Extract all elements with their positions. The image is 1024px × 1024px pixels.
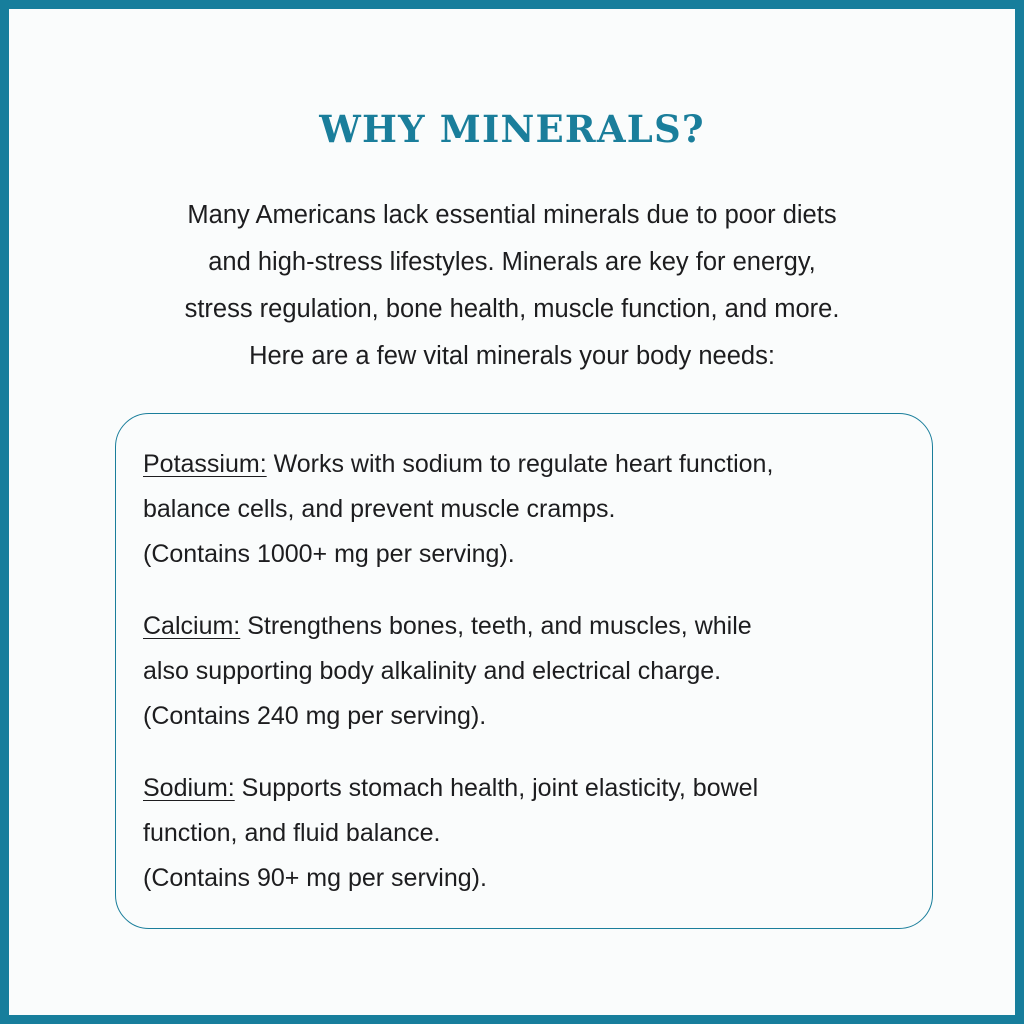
mineral-entry-calcium: Calcium: Strengthens bones, teeth, and m… bbox=[143, 604, 908, 739]
mineral-entry-potassium: Potassium: Works with sodium to regulate… bbox=[143, 442, 908, 577]
mineral-text-calcium-1: Strengthens bones, teeth, and muscles, w… bbox=[240, 612, 751, 640]
poster-canvas: WHY MINERALS? Many Americans lack essent… bbox=[9, 9, 1015, 1015]
intro-line-1: Many Americans lack essential minerals d… bbox=[97, 192, 927, 239]
mineral-entry-calcium-line-1: Calcium: Strengthens bones, teeth, and m… bbox=[143, 604, 908, 649]
minerals-card: Potassium: Works with sodium to regulate… bbox=[115, 413, 933, 929]
intro-line-4: Here are a few vital minerals your body … bbox=[97, 333, 927, 380]
mineral-entry-potassium-line-1: Potassium: Works with sodium to regulate… bbox=[143, 442, 908, 487]
mineral-entry-sodium: Sodium: Supports stomach health, joint e… bbox=[143, 766, 908, 901]
mineral-text-calcium-2: also supporting body alkalinity and elec… bbox=[143, 649, 908, 694]
intro-paragraph: Many Americans lack essential minerals d… bbox=[97, 192, 927, 380]
mineral-text-sodium-3: (Contains 90+ mg per serving). bbox=[143, 856, 908, 901]
minerals-list: Potassium: Works with sodium to regulate… bbox=[143, 442, 908, 901]
mineral-name-calcium: Calcium: bbox=[143, 612, 240, 640]
mineral-text-potassium-2: balance cells, and prevent muscle cramps… bbox=[143, 487, 908, 532]
mineral-text-sodium-1: Supports stomach health, joint elasticit… bbox=[235, 774, 758, 802]
mineral-name-sodium: Sodium: bbox=[143, 774, 235, 802]
mineral-entry-sodium-line-1: Sodium: Supports stomach health, joint e… bbox=[143, 766, 908, 811]
mineral-text-calcium-3: (Contains 240 mg per serving). bbox=[143, 694, 908, 739]
mineral-name-potassium: Potassium: bbox=[143, 450, 267, 478]
mineral-text-potassium-3: (Contains 1000+ mg per serving). bbox=[143, 532, 908, 577]
page-title: WHY MINERALS? bbox=[9, 107, 1015, 151]
intro-line-3: stress regulation, bone health, muscle f… bbox=[97, 286, 927, 333]
mineral-text-potassium-1: Works with sodium to regulate heart func… bbox=[267, 450, 774, 478]
mineral-text-sodium-2: function, and fluid balance. bbox=[143, 811, 908, 856]
intro-line-2: and high-stress lifestyles. Minerals are… bbox=[97, 239, 927, 286]
